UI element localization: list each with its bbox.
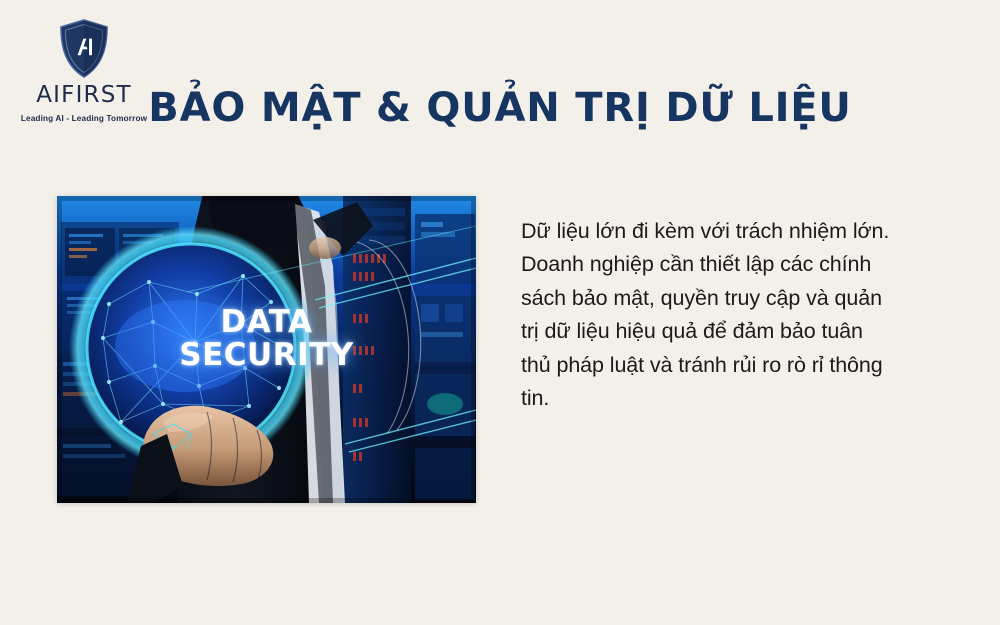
shield-ai-icon <box>57 18 111 80</box>
data-security-image: DATA SECURITY <box>57 196 476 503</box>
body-paragraph: Dữ liệu lớn đi kèm với trách nhiệm lớn. … <box>521 215 893 416</box>
page-title: BẢO MẬT & QUẢN TRỊ DỮ LIỆU <box>0 85 1000 131</box>
data-security-illustration <box>57 196 476 503</box>
